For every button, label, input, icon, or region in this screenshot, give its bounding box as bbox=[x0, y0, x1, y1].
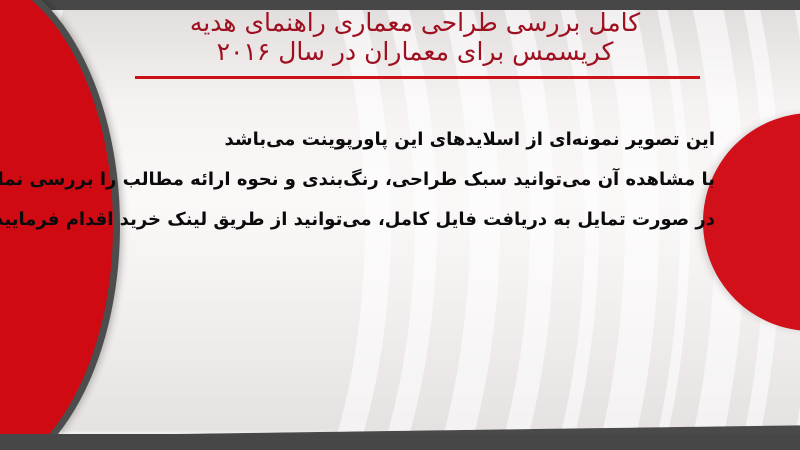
presentation-slide: کامل بررسی طراحی معماری راهنمای هدیه کری… bbox=[0, 0, 800, 450]
slide-title: کامل بررسی طراحی معماری راهنمای هدیه کری… bbox=[120, 8, 710, 66]
red-circle-shape bbox=[703, 113, 800, 331]
body-text-line-3: در صورت تمایل به دریافت فایل کامل، می‌تو… bbox=[150, 200, 715, 240]
slide-title-line-2: کریسمس برای معماران در سال ۲۰۱۶ bbox=[120, 37, 710, 66]
slide-bottom-frame-band bbox=[0, 434, 800, 450]
slide-body-text: این تصویر نمونه‌ای از اسلایدهای این پاور… bbox=[150, 120, 715, 240]
title-underline-rule bbox=[135, 76, 700, 79]
body-text-line-2: با مشاهده آن می‌توانید سبک طراحی، رنگ‌بن… bbox=[150, 160, 715, 200]
slide-title-line-1: کامل بررسی طراحی معماری راهنمای هدیه bbox=[120, 8, 710, 37]
body-text-line-1: این تصویر نمونه‌ای از اسلایدهای این پاور… bbox=[150, 120, 715, 160]
